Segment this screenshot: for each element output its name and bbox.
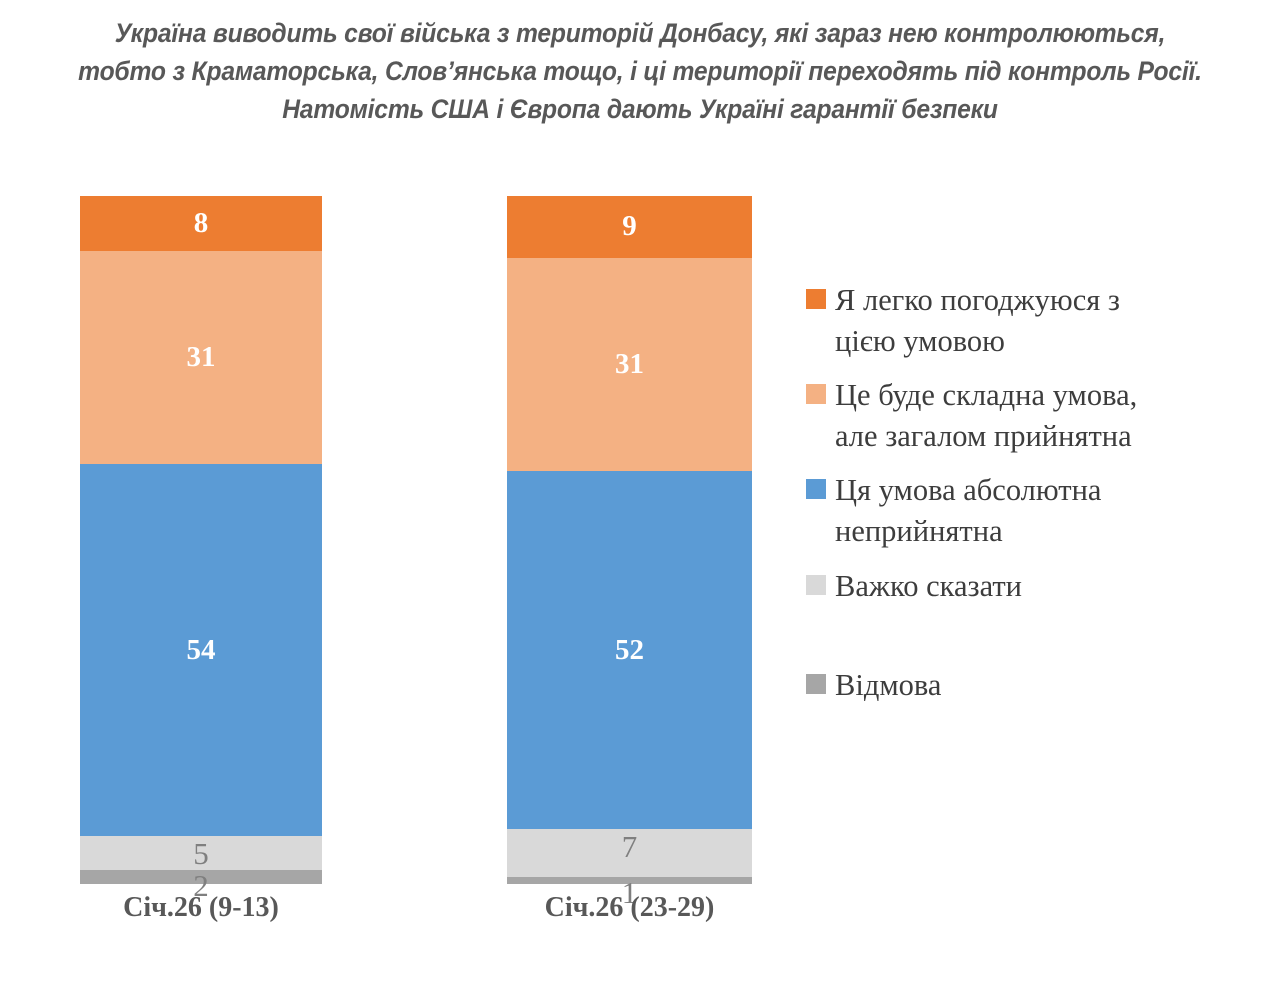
stacked-bar-0: 8 31 54 5 2 bbox=[80, 196, 322, 884]
bar-segment-label-0-3: 5 bbox=[193, 838, 209, 869]
bar-group-1: 9 31 52 7 1 Січ.26 (23-29) bbox=[507, 196, 752, 884]
legend-swatch-icon-2 bbox=[806, 479, 826, 499]
bar-group-0: 8 31 54 5 2 Січ.26 (9-13) bbox=[80, 196, 322, 884]
bar-segment-1-1[interactable]: 31 bbox=[507, 258, 752, 471]
legend-item-3[interactable]: Важко сказати bbox=[806, 566, 1022, 607]
bar-segment-0-2[interactable]: 54 bbox=[80, 464, 322, 836]
bar-segment-0-4[interactable]: 2 bbox=[80, 870, 322, 884]
bar-segment-label-1-0: 9 bbox=[622, 212, 637, 241]
bar-segment-1-0[interactable]: 9 bbox=[507, 196, 752, 258]
legend-item-4[interactable]: Відмова bbox=[806, 665, 941, 706]
legend-item-1[interactable]: Це буде складна умова, але загалом прийн… bbox=[806, 375, 1137, 457]
bar-segment-0-3[interactable]: 5 bbox=[80, 836, 322, 870]
bar-segment-label-1-2: 52 bbox=[615, 636, 644, 665]
bar-segment-label-1-3: 7 bbox=[622, 831, 638, 862]
legend-swatch-icon-4 bbox=[806, 674, 826, 694]
legend-swatch-icon-0 bbox=[806, 289, 826, 309]
legend-swatch-icon-3 bbox=[806, 575, 826, 595]
legend-label-1: Це буде складна умова, але загалом прийн… bbox=[835, 375, 1137, 457]
bar-segment-1-4[interactable]: 1 bbox=[507, 877, 752, 884]
x-axis-label-1: Січ.26 (23-29) bbox=[545, 892, 715, 924]
bar-segment-0-1[interactable]: 31 bbox=[80, 251, 322, 464]
bar-segment-label-0-1: 31 bbox=[187, 343, 216, 372]
bar-segment-0-0[interactable]: 8 bbox=[80, 196, 322, 251]
bar-segment-label-0-2: 54 bbox=[187, 636, 216, 665]
bar-segment-1-2[interactable]: 52 bbox=[507, 471, 752, 829]
x-axis-label-0: Січ.26 (9-13) bbox=[123, 892, 279, 924]
legend-item-2[interactable]: Ця умова абсолютна неприйнятна bbox=[806, 470, 1101, 552]
legend-swatch-icon-1 bbox=[806, 384, 826, 404]
legend-label-3: Важко сказати bbox=[835, 566, 1022, 607]
bar-segment-label-1-1: 31 bbox=[615, 350, 644, 379]
bar-segment-1-3[interactable]: 7 bbox=[507, 829, 752, 877]
stacked-bar-1: 9 31 52 7 1 bbox=[507, 196, 752, 884]
bar-segment-label-0-0: 8 bbox=[194, 209, 209, 238]
legend-item-0[interactable]: Я легко погоджуюся з цією умовою bbox=[806, 280, 1120, 362]
legend-label-0: Я легко погоджуюся з цією умовою bbox=[835, 280, 1120, 362]
legend-label-4: Відмова bbox=[835, 665, 941, 706]
plot-area: 8 31 54 5 2 Січ.26 (9-13) 9 31 bbox=[0, 0, 800, 988]
legend-label-2: Ця умова абсолютна неприйнятна bbox=[835, 470, 1101, 552]
